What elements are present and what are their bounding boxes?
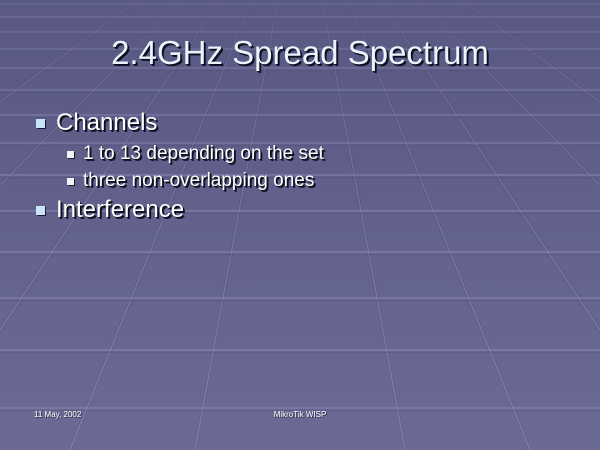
bullet-item-channel-range: 1 to 13 depending on the set <box>0 141 560 168</box>
square-bullet-icon <box>36 119 45 128</box>
square-bullet-icon <box>67 151 74 158</box>
square-bullet-icon <box>67 178 74 185</box>
footer-center-label: MikroTik WISP <box>0 409 600 421</box>
bullet-label: three non-overlapping ones <box>83 168 314 193</box>
bullet-item-interference: Interference <box>0 195 560 228</box>
slide-body: Channels 1 to 13 depending on the set th… <box>0 108 560 228</box>
slide-title: 2.4GHz Spread Spectrum <box>0 33 600 73</box>
bullet-label: Channels <box>56 108 157 138</box>
bullet-label: 1 to 13 depending on the set <box>83 141 324 166</box>
bullet-label: Interference <box>56 195 184 225</box>
presentation-slide: 2.4GHz Spread Spectrum Channels 1 to 13 … <box>0 0 600 450</box>
square-bullet-icon <box>36 206 45 215</box>
bullet-item-channels: Channels <box>0 108 560 141</box>
bullet-item-non-overlapping: three non-overlapping ones <box>0 168 560 195</box>
